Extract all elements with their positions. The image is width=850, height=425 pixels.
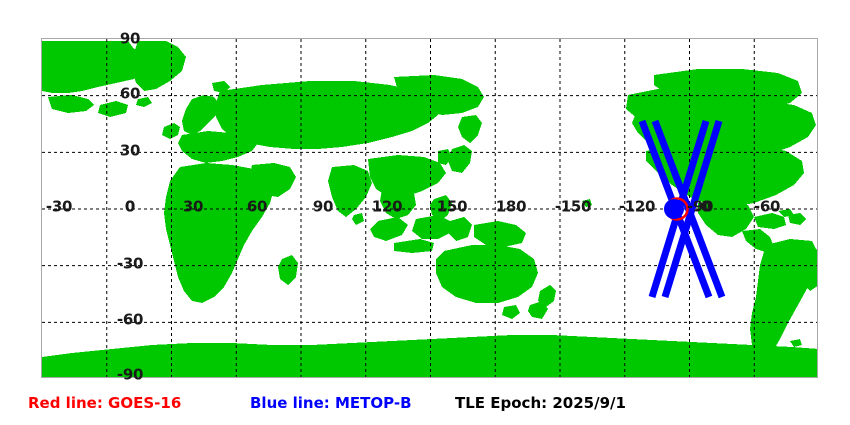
- lat-tick--90: -90: [117, 368, 143, 383]
- lat-tick-90: 90: [120, 32, 140, 47]
- lat-tick-0: 0: [125, 200, 135, 215]
- lat-tick--30: -30: [117, 257, 143, 272]
- lon-tick-60: 60: [247, 200, 267, 215]
- lon-tick-90: 90: [313, 200, 333, 215]
- figure-legend: Red line: GOES-16 Blue line: METOP-B TLE…: [0, 392, 850, 425]
- legend-metopb-label: Blue line: METOP-B: [250, 392, 412, 414]
- lon-tick-150: 150: [437, 200, 467, 215]
- metop-b-position-dot: [664, 199, 684, 219]
- lat-tick-60: 60: [120, 87, 140, 102]
- satellite-ground-track-figure: -30 0 30 60 90 120 150 180 -150 -120 -90…: [0, 0, 850, 425]
- legend-goes16-label: Red line: GOES-16: [28, 392, 181, 414]
- lon-tick--120: -120: [619, 200, 655, 215]
- lon-tick-0-overlap: 0: [701, 200, 711, 215]
- lat-tick--60: -60: [117, 313, 143, 328]
- lon-tick--150: -150: [555, 200, 591, 215]
- lon-tick-120: 120: [372, 200, 402, 215]
- lon-tick--60: -60: [754, 200, 780, 215]
- lon-tick--30: -30: [46, 200, 72, 215]
- lon-tick-30: 30: [183, 200, 203, 215]
- legend-tle-epoch: TLE Epoch: 2025/9/1: [455, 392, 626, 414]
- lat-tick-30: 30: [120, 144, 140, 159]
- lon-tick-180: 180: [496, 200, 526, 215]
